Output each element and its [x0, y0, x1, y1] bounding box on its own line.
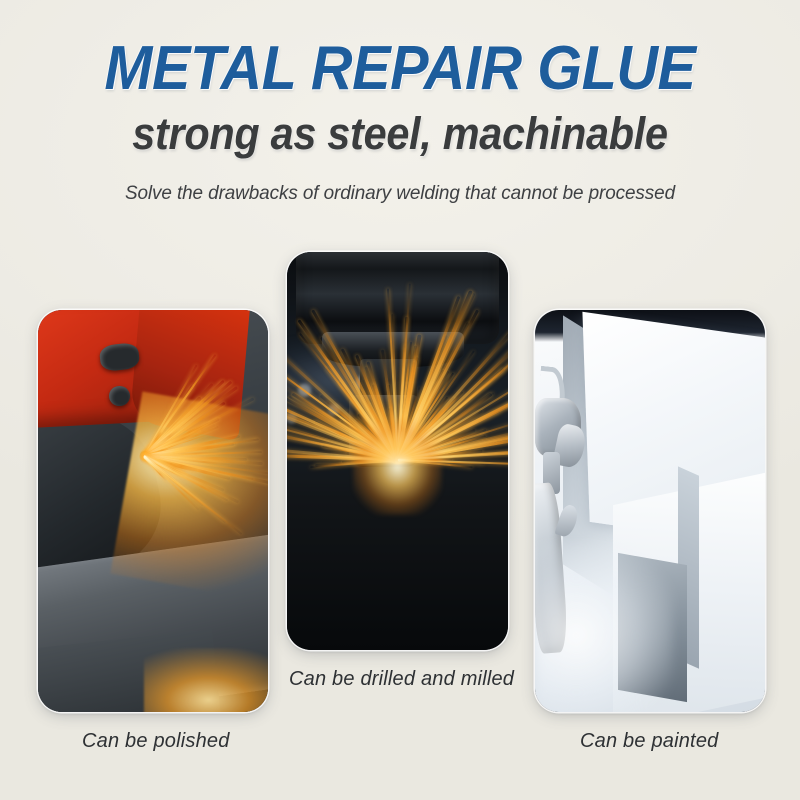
spark-core-glow: [353, 419, 441, 515]
page-subtitle: strong as steel, machinable: [32, 108, 768, 160]
photo-caption-drilled-milled: Can be drilled and milled: [289, 666, 514, 692]
photo-caption-polished: Can be polished: [82, 728, 230, 754]
photo-card-drilled-milled[interactable]: [287, 252, 508, 650]
spark-glow-secondary: [144, 648, 268, 712]
photo-image-polished: [38, 310, 268, 712]
photo-card-polished[interactable]: [38, 310, 268, 712]
page-title: METAL REPAIR GLUE: [28, 36, 772, 102]
photo-caption-painted: Can be painted: [580, 728, 718, 754]
photo-card-painted[interactable]: [535, 310, 765, 712]
headline-block: METAL REPAIR GLUE strong as steel, machi…: [0, 0, 800, 206]
page-tagline: Solve the drawbacks of ordinary welding …: [12, 180, 788, 206]
paint-mist: [535, 543, 673, 712]
photo-image-drilled-milled: [287, 252, 508, 650]
photo-image-painted: [535, 310, 765, 712]
spray-gun-trigger: [554, 503, 580, 539]
